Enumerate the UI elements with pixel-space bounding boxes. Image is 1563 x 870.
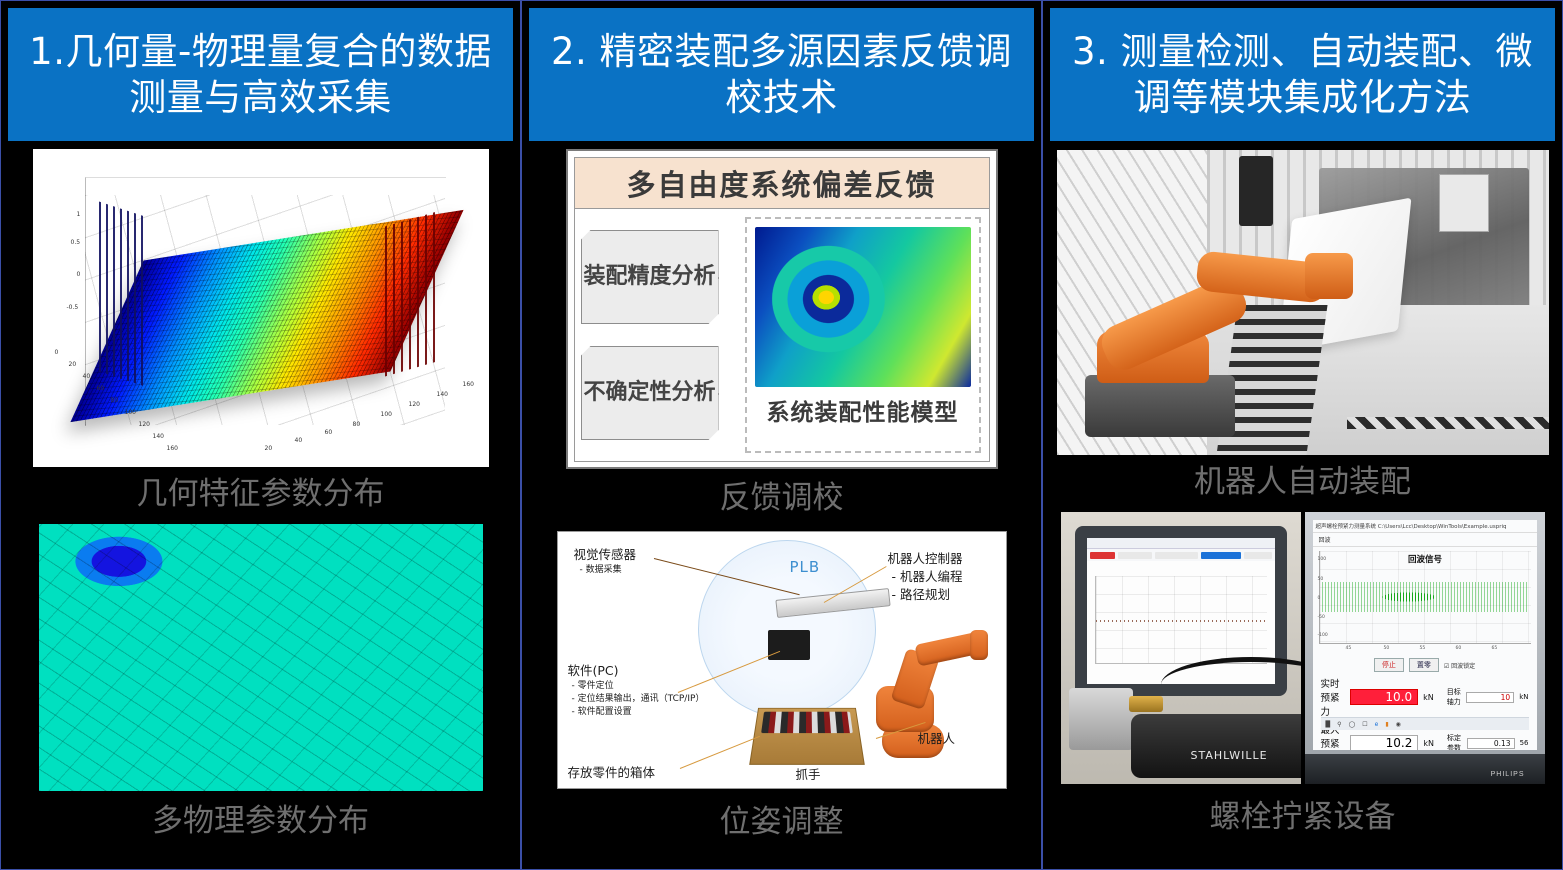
toolbar-chip-2[interactable] [1155, 552, 1198, 559]
x-tick-60: 60 [97, 385, 105, 392]
z-tick-neg05: -0.5 [67, 304, 79, 311]
label-parts-bin: 存放零件的箱体 [568, 762, 656, 781]
slide-root: 1.几何量-物理量复合的数据测量与高效采集 1 0.5 0 -0.5 0 20 … [0, 0, 1563, 870]
panel-1-header: 1.几何量-物理量复合的数据测量与高效采集 [8, 8, 513, 141]
caption-multiphysics: 多物理参数分布 [152, 806, 369, 837]
y-tick-80: 80 [353, 421, 361, 428]
robot-cell-diagram: PLB 视觉传感器 - 数据采集 软件(PC) - 零件定位 - 定位结果输出，… [558, 532, 1006, 788]
readout-row-realtime: 实时预紧力 10.0 kN 目标轴力 10 kN [1313, 674, 1537, 720]
feedback-diagram-body: 装配精度分析 不确定性分析 系统装配性能模型 [574, 209, 990, 462]
echo-lock-checkbox[interactable]: ☑ 回波锁定 [1444, 661, 1475, 670]
laptop-photo: STAHLWILLE [1061, 512, 1301, 784]
label-software-item-0: - 零件定位 [572, 678, 614, 691]
target-axial-force-unit: kN [1519, 693, 1528, 701]
laptop-scene: STAHLWILLE [1061, 512, 1301, 784]
label-software: 软件(PC) [568, 660, 619, 679]
edge-icon[interactable]: e [1375, 721, 1379, 728]
feedback-diagram: 多自由度系统偏差反馈 装配精度分析 不确定性分析 [568, 151, 996, 467]
windows-taskbar: █ ⚲ ◯ ☐ e ▮ ◉ [1321, 717, 1529, 730]
y-tick-50: 50 [1318, 577, 1324, 582]
feedback-node-column: 装配精度分析 不确定性分析 [575, 209, 725, 461]
x-tick-55: 55 [1420, 646, 1426, 651]
x-tick-120: 120 [139, 421, 150, 428]
y-tick-120: 120 [409, 401, 420, 408]
realtime-preload-unit: kN [1423, 693, 1434, 702]
x-tick-80: 80 [111, 397, 119, 404]
x-tick-20: 20 [69, 361, 77, 368]
y-tick-60: 60 [325, 429, 333, 436]
caption-robot-assembly: 机器人自动装配 [1194, 467, 1411, 498]
surface-right-spikes [385, 212, 437, 377]
taskview-icon[interactable]: ☐ [1362, 721, 1367, 728]
y-tick-neg50: -50 [1318, 615, 1325, 620]
monitor-photo: 超声螺栓预紧力测量系统 C:\Users\Lcc\Desktop\WinTool… [1305, 512, 1545, 784]
label-vision-sensor: 视觉传感器 [574, 544, 637, 563]
label-software-item-1: - 定位结果输出，通讯（TCP/IP） [572, 691, 705, 704]
toolbar-chip-1[interactable] [1118, 552, 1152, 559]
label-software-item-2: - 软件配置设置 [572, 704, 632, 717]
node-uncertainty-label: 不确定性分析 [583, 380, 715, 405]
y-tick-neg100: -100 [1318, 633, 1328, 638]
toolbar-chip-blue[interactable] [1201, 552, 1241, 559]
fea-contour-model-image [755, 227, 971, 387]
z-tick-05: 0.5 [71, 239, 81, 246]
laptop-app-toolbar [1087, 549, 1275, 561]
panel-2-title: 2. 精密装配多源因素反馈调校技术 [539, 29, 1024, 121]
cortana-icon[interactable]: ◯ [1349, 721, 1356, 728]
feedback-diagram-figure: 多自由度系统偏差反馈 装配精度分析 不确定性分析 [566, 149, 998, 469]
label-controller-item-0: - 机器人编程 [892, 566, 963, 585]
caption-bolt-tightening: 螺栓拧紧设备 [1210, 802, 1396, 833]
parts-bin-icon [749, 708, 865, 765]
robot-arm-illustration [858, 628, 988, 768]
node-uncertainty: 不确定性分析 [581, 346, 719, 440]
panel-2: 2. 精密装配多源因素反馈调校技术 多自由度系统偏差反馈 装配精度分析 不确定性… [521, 0, 1042, 870]
torque-wrench-brand: STAHLWILLE [1191, 749, 1268, 762]
y-tick-100: 100 [1318, 557, 1327, 562]
laptop-waveform-trace [1096, 620, 1267, 622]
bolt-tightening-photo: STAHLWILLE 超声螺栓预紧力测量系统 C:\Users\Lcc\Desk… [1061, 512, 1545, 784]
arrow-left-icon-2 [718, 393, 748, 395]
caption-geometric-feature: 几何特征参数分布 [137, 479, 385, 510]
label-robot-controller: 机器人控制器 [888, 548, 963, 567]
extra-counter-value: 56 [1520, 739, 1529, 747]
plb-label: PLB [790, 558, 821, 576]
x-tick-40: 40 [83, 373, 91, 380]
echo-lock-label: 回波锁定 [1451, 663, 1475, 670]
software-path-bar[interactable]: 超声螺栓预紧力测量系统 C:\Users\Lcc\Desktop\WinTool… [1313, 520, 1537, 533]
target-axial-force-value[interactable]: 10 [1466, 692, 1514, 703]
panel-3-header: 3. 测量检测、自动装配、微调等模块集成化方法 [1050, 8, 1555, 141]
panel-3-title: 3. 测量检测、自动装配、微调等模块集成化方法 [1060, 29, 1545, 121]
surface-plot-figure: 1 0.5 0 -0.5 0 20 40 60 80 100 120 140 1… [33, 149, 489, 467]
arm-gripper [970, 630, 988, 660]
bolt-software-screen[interactable]: 超声螺栓预紧力测量系统 C:\Users\Lcc\Desktop\WinTool… [1313, 520, 1537, 750]
control-panel-box [1439, 174, 1489, 232]
realtime-preload-label: 实时预紧力 [1321, 676, 1346, 718]
arrow-left-icon [718, 277, 748, 279]
feedback-model-panel: 系统装配性能模型 [745, 217, 981, 453]
y-tick-140: 140 [437, 391, 448, 398]
laptop-app-titlebar [1087, 538, 1275, 549]
x-tick-50: 50 [1384, 646, 1390, 651]
app-icon[interactable]: ◉ [1396, 721, 1401, 728]
realtime-preload-value: 10.0 [1350, 689, 1418, 705]
robot-cell-figure: PLB 视觉传感器 - 数据采集 软件(PC) - 零件定位 - 定位结果输出，… [557, 531, 1007, 789]
target-axial-force-label: 目标轴力 [1447, 687, 1461, 707]
ultrasonic-sensor-fixture [1069, 688, 1133, 750]
toolbar-chip-3[interactable] [1244, 552, 1272, 559]
calibration-param-value[interactable]: 0.13 [1467, 738, 1515, 749]
controller-box-icon [768, 630, 810, 660]
echo-waveform-trace [1322, 582, 1529, 612]
work-envelope-circle [698, 540, 876, 718]
leader-line-bin [679, 736, 759, 769]
echo-signal-chart: 回波信号 100 50 0 -50 -100 45 50 55 60 65 [1319, 551, 1531, 644]
surface-left-spikes [99, 202, 145, 387]
contour-lines-overlay [39, 524, 483, 791]
z-tick-0: 0 [77, 271, 81, 278]
monitor-scene: 超声螺栓预紧力测量系统 C:\Users\Lcc\Desktop\WinTool… [1305, 512, 1545, 784]
y-tick-40: 40 [295, 437, 303, 444]
panel-2-header: 2. 精密装配多源因素反馈调校技术 [529, 8, 1034, 141]
node-assembly-accuracy-label: 装配精度分析 [583, 264, 715, 289]
max-preload-value: 10.2 [1350, 735, 1418, 750]
robot-photo-scene [1057, 150, 1549, 455]
stop-button[interactable]: 停止 [1374, 658, 1404, 672]
echo-chart-title: 回波信号 [1320, 553, 1531, 565]
x-tick-160: 160 [167, 445, 178, 452]
laptop-waveform-plot [1095, 576, 1267, 664]
torque-wrench [1131, 714, 1301, 778]
label-robot: 机器人 [918, 728, 956, 747]
contour-map-canvas [39, 524, 483, 791]
y-tick-100: 100 [381, 411, 392, 418]
explorer-icon[interactable]: ▮ [1385, 721, 1388, 728]
x-tick-45: 45 [1346, 646, 1352, 651]
caption-pose-adjustment: 位姿调整 [720, 807, 844, 838]
x-tick-65: 65 [1492, 646, 1498, 651]
z-tick-1: 1 [77, 211, 81, 218]
x-tick-0: 0 [55, 349, 59, 356]
y-tick-20: 20 [265, 445, 273, 452]
monitor-stand [1305, 754, 1545, 784]
x-tick-100: 100 [125, 409, 136, 416]
toolbar-chip-red[interactable] [1090, 552, 1116, 559]
label-controller-item-1: - 路径规划 [892, 584, 950, 603]
robot-base [1085, 375, 1235, 437]
label-gripper: 抓手 [796, 764, 821, 783]
panel-1: 1.几何量-物理量复合的数据测量与高效采集 1 0.5 0 -0.5 0 20 … [0, 0, 521, 870]
monitor-brand: PHILIPS [1491, 771, 1525, 778]
calibration-param-label: 标定参数 [1447, 733, 1462, 750]
caption-feedback-calibration: 反馈调校 [720, 483, 844, 514]
brass-connector [1129, 696, 1163, 712]
feedback-diagram-title: 多自由度系统偏差反馈 [574, 157, 990, 209]
node-assembly-accuracy: 装配精度分析 [581, 230, 719, 324]
label-vision-sensor-sub: - 数据采集 [580, 562, 622, 575]
max-preload-unit: kN [1423, 739, 1434, 748]
contour-map-figure [39, 524, 483, 791]
panel-1-title: 1.几何量-物理量复合的数据测量与高效采集 [18, 29, 503, 121]
y-tick-160: 160 [463, 381, 474, 388]
start-icon[interactable]: █ [1326, 721, 1331, 728]
hazard-stripe [1347, 417, 1549, 429]
control-button-row: 停止 置零 ☑ 回波锁定 [1313, 656, 1537, 674]
x-tick-140: 140 [153, 433, 164, 440]
industrial-robot-photo [1057, 150, 1549, 455]
y-tick-zero: 0 [1318, 596, 1321, 601]
robot-mast [1239, 156, 1273, 226]
tab-echo[interactable]: 回波 [1313, 533, 1537, 547]
zero-button[interactable]: 置零 [1409, 658, 1439, 672]
panel-3: 3. 测量检测、自动装配、微调等模块集成化方法 机器人自动装配 [1042, 0, 1563, 870]
search-icon[interactable]: ⚲ [1337, 721, 1341, 728]
x-tick-60: 60 [1456, 646, 1462, 651]
robot-wrist [1305, 253, 1353, 299]
surface-plot-canvas: 1 0.5 0 -0.5 0 20 40 60 80 100 120 140 1… [33, 149, 489, 467]
feedback-model-caption: 系统装配性能模型 [767, 393, 959, 427]
